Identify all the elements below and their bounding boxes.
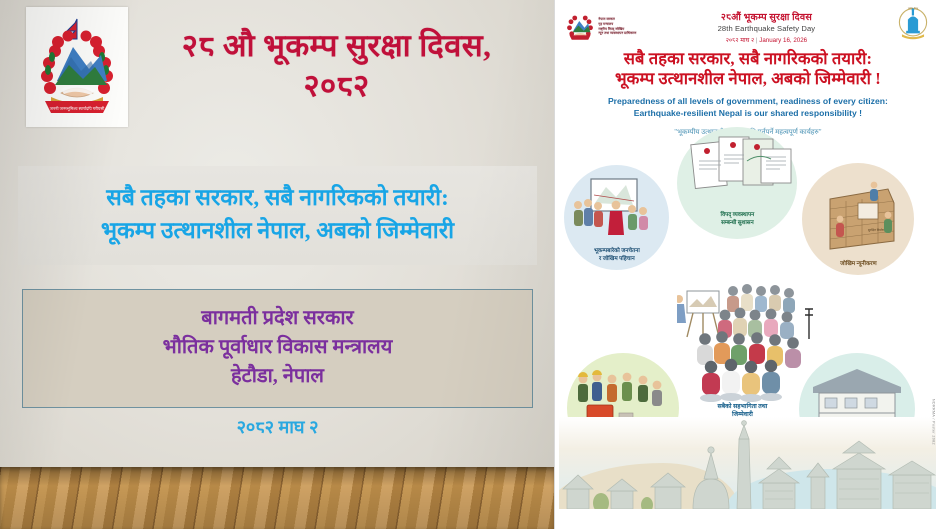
poster-head-np: २८औं भूकम्प सुरक्षा दिवस [636, 10, 896, 23]
community-gathering-illustration [677, 281, 817, 403]
poster-logo-left-text: नेपाल सरकार गृह मन्त्रालय राष्ट्रिय विपद… [598, 17, 636, 37]
ministry-line-3: हेटौडा, नेपाल [31, 362, 524, 391]
bubble-2-caption-line-1: विपद् व्यवस्थापन [721, 212, 755, 218]
slogan-line-2: भूकम्प उत्थानशील नेपाल, अबको जिम्मेवारी [28, 215, 527, 248]
poster-inner: नेपाल सरकार गृह मन्त्रालय राष्ट्रिय विपद… [559, 3, 936, 526]
projected-slide: जननी जन्मभूमिश्च स्वर्गादपि गरीयसी २८ औ … [0, 0, 554, 529]
wooden-floor [0, 467, 554, 529]
poster-slogan-line-2: भूकम्प उत्थानशील नेपाल, अबको जिम्मेवारी … [563, 69, 932, 89]
printed-poster: नेपाल सरकार गृह मन्त्रालय राष्ट्रिय विपद… [554, 0, 940, 529]
bubble-awareness-risk-identification: भूकम्पबारेको जनचेतना र जोखिम पहिचान [564, 165, 669, 270]
bubble-risk-reduction: सुरक्षित निर्माण जोखिम न्यूनीकरण [802, 163, 914, 275]
poster-illustration: भूकम्पबारेको जनचेतना र जोखिम पहिचान [559, 141, 936, 509]
bubble-1-caption-line-1: भूकम्पबारेको जनचेतना [594, 248, 640, 254]
poster-header-title: २८औं भूकम्प सुरक्षा दिवस 28th Earthquake… [636, 10, 896, 44]
slide-date: २०८२ माघ २ [0, 415, 554, 439]
bubble-3-caption: जोखिम न्यूनीकरण [802, 261, 914, 275]
poster-english-slogan: Preparedness of all levels of government… [559, 96, 936, 120]
bubble-3-caption-line-1: जोखिम न्यूनीकरण [840, 261, 876, 267]
poster-head-en: 28th Earthquake Safety Day [636, 24, 896, 33]
dharahara-logo-icon: राष्ट्रिय विपद् [896, 6, 930, 47]
bubble-1-caption: भूकम्पबारेको जनचेतना र जोखिम पहिचान [564, 248, 669, 270]
poster-slogan: सबै तहका सरकार, सबै नागरिकको तयारी: भूकम… [559, 49, 936, 89]
poster-head-date-en: January 16, 2026 [759, 37, 807, 44]
poster-english-line-1: Preparedness of all levels of government… [571, 96, 924, 108]
bubble-2-caption: विपद् व्यवस्थापन सम्बन्धी सुशासन [677, 212, 797, 239]
slogan-panel: सबै तहका सरकार, सबै नागरिकको तयारी: भूकम… [18, 166, 537, 265]
poster-head-date-separator: | [756, 37, 758, 44]
kathmandu-heritage-skyline [559, 417, 936, 509]
slide-title-line2: २०८२ [132, 66, 541, 106]
center-caption-line-1: सबैको सहभागिता तथा [717, 403, 767, 410]
bubble-1-caption-line-2: र जोखिम पहिचान [599, 256, 635, 262]
slide-title-line1: २८ औ भूकम्प सुरक्षा दिवस, [132, 26, 541, 66]
slide-title: २८ औ भूकम्प सुरक्षा दिवस, २०८२ [128, 26, 554, 105]
ministry-line-2: भौतिक पूर्वाधार विकास मन्त्रालय [31, 333, 524, 362]
nepal-national-emblem-icon: जननी जन्मभूमिश्च स्वर्गादपि गरीयसी [26, 7, 128, 127]
ministry-line-1: बागमती प्रदेश सरकार [31, 304, 524, 333]
poster-english-line-2: Earthquake-resilient Nepal is our shared… [571, 108, 924, 120]
poster-head-date: २०८२ माघ २ | January 16, 2026 [636, 35, 896, 44]
slide-header: जननी जन्मभूमिश्च स्वर्गादपि गरीयसी २८ औ … [0, 0, 554, 132]
poster-header-row: नेपाल सरकार गृह मन्त्रालय राष्ट्रिय विपद… [559, 3, 936, 47]
ministry-panel: बागमती प्रदेश सरकार भौतिक पूर्वाधार विका… [22, 289, 533, 408]
government-of-nepal-emblem-icon: नेपाल सरकार गृह मन्त्रालय राष्ट्रिय विपद… [565, 12, 636, 42]
svg-text:राष्ट्रिय विपद्: राष्ट्रिय विपद् [908, 7, 919, 10]
poster-head-date-np: २०८२ माघ २ [726, 37, 755, 44]
poster-slogan-line-1: सबै तहका सरकार, सबै नागरिकको तयारी: [563, 49, 932, 69]
screenshot-root: जननी जन्मभूमिश्च स्वर्गादपि गरीयसी २८ औ … [0, 0, 940, 529]
bubble-disaster-governance: विपद् व्यवस्थापन सम्बन्धी सुशासन [677, 127, 797, 239]
bubble-2-caption-line-2: सम्बन्धी सुशासन [721, 220, 754, 226]
slogan-line-1: सबै तहका सरकार, सबै नागरिकको तयारी: [28, 182, 527, 215]
svg-text:सुरक्षित निर्माण: सुरक्षित निर्माण [868, 228, 885, 232]
poster-side-code: NDRRMA / Poster 2082 [931, 399, 935, 445]
